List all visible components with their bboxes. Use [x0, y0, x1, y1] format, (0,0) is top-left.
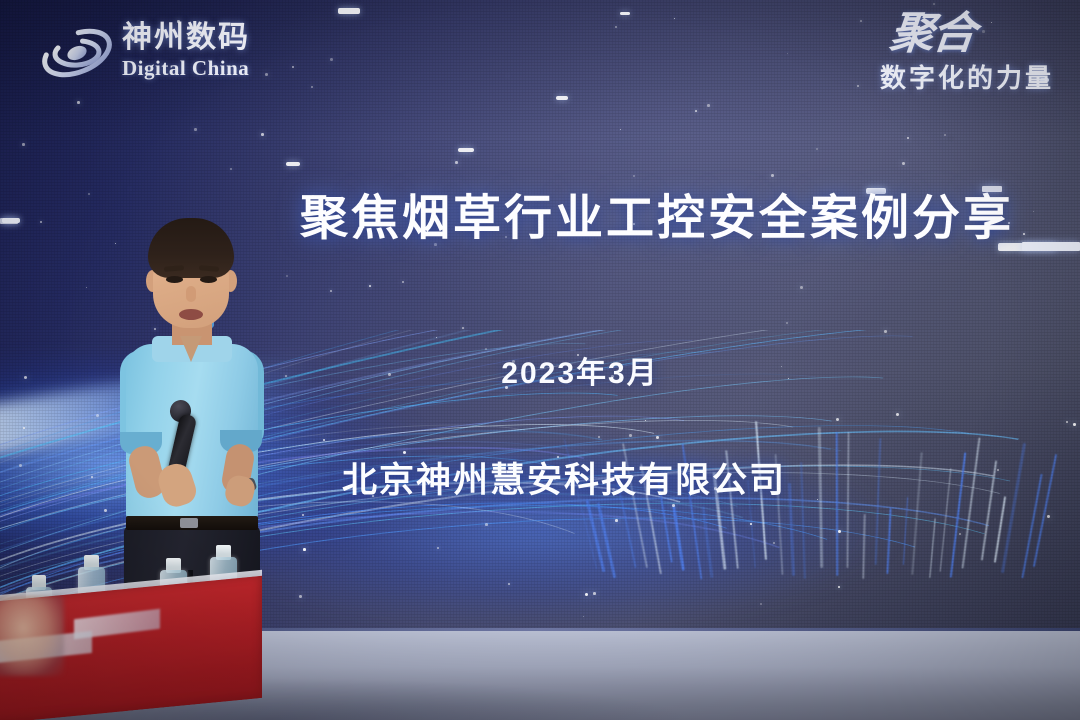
event-calligraphy-text: 聚合 — [782, 14, 1056, 54]
slide-title: 聚焦烟草行业工控安全案例分享 — [300, 178, 1020, 248]
deco-bar-right-upper — [1022, 242, 1080, 251]
speaker-hair — [148, 218, 234, 278]
brand-name-cn: 神州数码 — [122, 22, 250, 54]
brand-name-en: Digital China — [122, 56, 250, 81]
speaker-nose — [186, 286, 196, 302]
speaker-belt-buckle — [180, 518, 198, 528]
conference-stage-photo: 聚焦烟草行业工控安全案例分享 2023年3月 北京神州慧安科技有限公司 — [0, 0, 1080, 720]
foreground-attendee — [0, 596, 64, 676]
deco-bar-right-small — [982, 186, 1002, 192]
event-slogan: 聚合 数字化的力量 — [784, 14, 1054, 110]
spiral-galaxy-mark-icon — [40, 22, 114, 84]
brand-logo: 神州数码 Digital China — [40, 18, 290, 90]
speaker-eye-left — [166, 276, 183, 283]
deco-bar-left-small — [0, 218, 18, 224]
brand-logo-text: 神州数码 Digital China — [122, 22, 250, 81]
speaker-eye-right — [200, 276, 217, 283]
speaker-mouth — [179, 309, 203, 320]
speaker-person — [96, 218, 286, 630]
event-tagline: 数字化的力量 — [784, 58, 1054, 95]
